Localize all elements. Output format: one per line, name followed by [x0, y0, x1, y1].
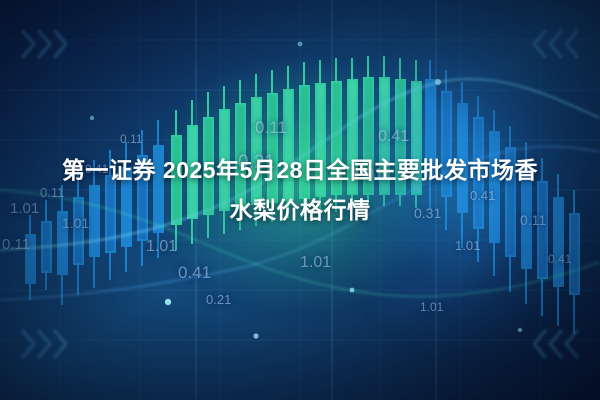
overlay-number: 0.11 — [255, 118, 287, 138]
overlay-number: 0.41 — [548, 252, 571, 266]
overlay-number: 1.01 — [420, 300, 443, 314]
overlay-number: 0.41 — [378, 128, 409, 146]
headline: 第一证券 2025年5月28日全国主要批发市场香 水梨价格行情 — [0, 150, 600, 230]
headline-line-1: 第一证券 2025年5月28日全国主要批发市场香 — [62, 157, 538, 183]
overlay-number: 0.41 — [178, 263, 211, 283]
overlay-number: 0.21 — [206, 292, 231, 307]
overlay-number: 1.01 — [146, 238, 177, 256]
headline-line-2: 水梨价格行情 — [0, 190, 600, 230]
overlay-number: 1.01 — [300, 254, 331, 272]
overlay-number: 1.01 — [455, 238, 480, 253]
promo-image: 0.11 0.21 0.41 1.01 1.01 0.11 1.01 0.41 … — [0, 0, 600, 400]
overlay-number: 0.11 — [2, 236, 30, 253]
overlay-number: 0.11 — [120, 132, 142, 146]
